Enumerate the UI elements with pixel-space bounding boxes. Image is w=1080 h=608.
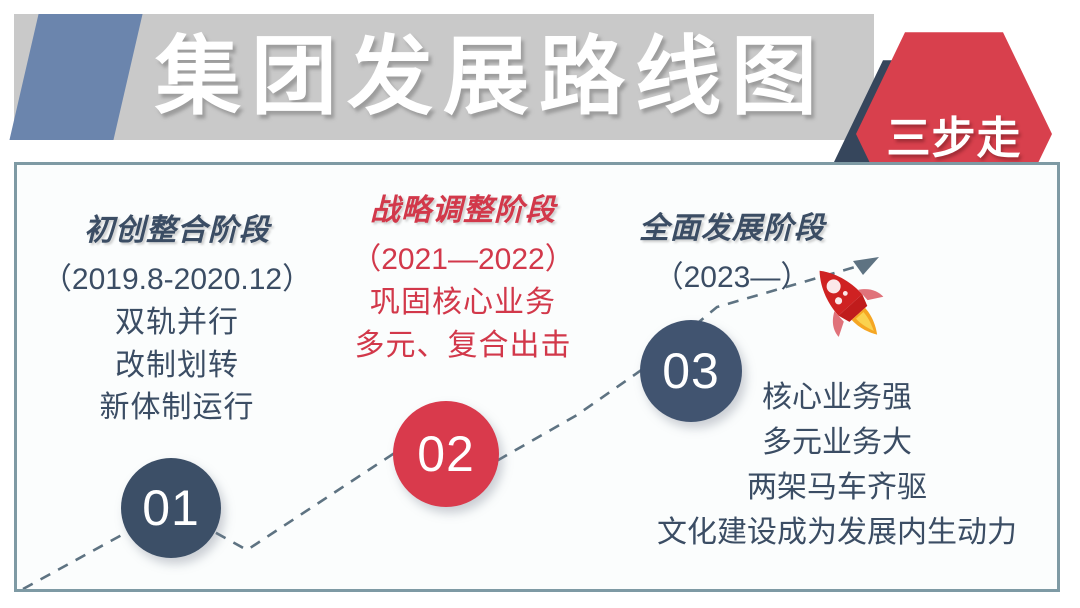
stage-1-node[interactable]: 01 xyxy=(121,458,221,558)
stage-1-date: （2019.8-2020.12） xyxy=(27,254,327,298)
rocket-icon xyxy=(795,249,895,349)
stage-3-line-3: 两架马车齐驱 xyxy=(617,465,1057,510)
stage-3-title: 全面发展阶段 xyxy=(587,203,877,247)
stage-1-text: 初创整合阶段 （2019.8-2020.12） 双轨并行 改制划转 新体制运行 xyxy=(27,205,327,430)
stage-2-node[interactable]: 02 xyxy=(393,401,499,507)
stage-1-line-2: 改制划转 xyxy=(27,345,327,388)
stage-2-line-1: 巩固核心业务 xyxy=(313,282,613,325)
stage-2-number: 02 xyxy=(417,425,475,483)
roadmap-canvas: 初创整合阶段 （2019.8-2020.12） 双轨并行 改制划转 新体制运行 … xyxy=(17,165,1057,589)
infographic-root: 集团发展路线图 三步走 初创整合阶段 （2019.8-2020.12） 双轨并行… xyxy=(0,0,1080,608)
stage-2-date: （2021—2022） xyxy=(313,234,613,278)
stage-2-title: 战略调整阶段 xyxy=(313,185,613,229)
roadmap-panel: 初创整合阶段 （2019.8-2020.12） 双轨并行 改制划转 新体制运行 … xyxy=(14,162,1060,592)
stage-2-line-2: 多元、复合出击 xyxy=(313,325,613,368)
stage-3-line-2: 多元业务大 xyxy=(617,420,1057,465)
stage-1-title: 初创整合阶段 xyxy=(27,205,327,249)
stage-2-text: 战略调整阶段 （2021—2022） 巩固核心业务 多元、复合出击 xyxy=(313,185,613,367)
stage-3-line-4: 文化建设成为发展内生动力 xyxy=(617,510,1057,555)
stage-1-line-3: 新体制运行 xyxy=(27,387,327,430)
stage-1-number: 01 xyxy=(142,479,200,537)
page-title: 集团发展路线图 xyxy=(155,18,827,136)
stage-3-node[interactable]: 03 xyxy=(640,320,742,422)
stage-1-line-1: 双轨并行 xyxy=(27,302,327,345)
stage-3-number: 03 xyxy=(662,342,720,400)
